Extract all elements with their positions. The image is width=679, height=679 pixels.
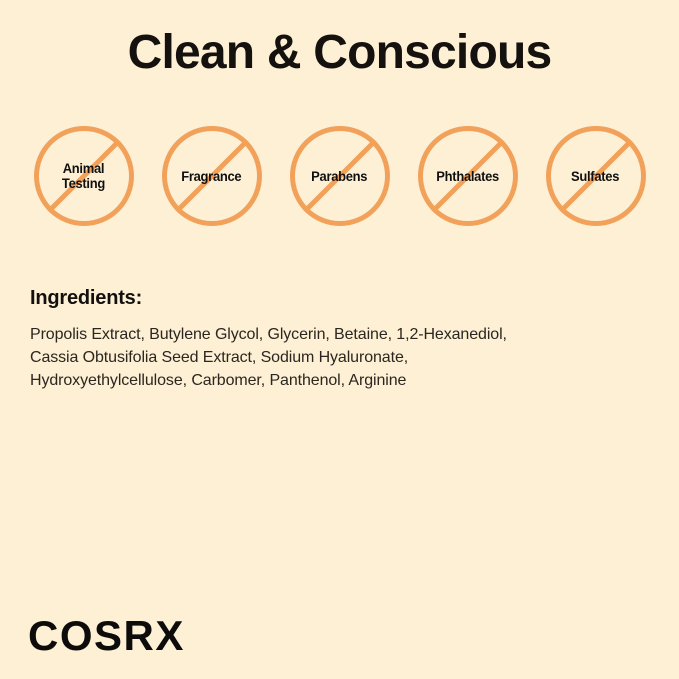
ingredients-line: Hydroxyethylcellulose, Carbomer, Panthen… xyxy=(30,369,655,392)
badge-animal-testing: Animal Testing xyxy=(34,126,134,226)
badge-fragrance: Fragrance xyxy=(162,126,262,226)
badge-phthalates: Phthalates xyxy=(418,126,518,226)
page-title: Clean & Conscious xyxy=(0,24,679,82)
free-from-badge-row: Animal Testing Fragrance Parabens Phthal… xyxy=(0,124,679,228)
ingredients-section: Ingredients: Propolis Extract, Butylene … xyxy=(30,286,655,392)
badge-parabens: Parabens xyxy=(290,126,390,226)
badge-label: Parabens xyxy=(311,169,367,184)
ingredients-heading: Ingredients: xyxy=(30,286,655,310)
brand-logo: COSRX xyxy=(28,612,185,660)
badge-label: Fragrance xyxy=(181,169,241,184)
ingredients-line: Propolis Extract, Butylene Glycol, Glyce… xyxy=(30,323,655,346)
badge-label: Sulfates xyxy=(571,169,619,184)
ingredients-line: Cassia Obtusifolia Seed Extract, Sodium … xyxy=(30,346,655,369)
product-infographic: Clean & Conscious Animal Testing Fragran… xyxy=(0,0,679,679)
badge-label: Phthalates xyxy=(436,169,499,184)
badge-label: Animal Testing xyxy=(62,161,105,191)
badge-sulfates: Sulfates xyxy=(546,126,646,226)
ingredients-list: Propolis Extract, Butylene Glycol, Glyce… xyxy=(30,323,655,392)
